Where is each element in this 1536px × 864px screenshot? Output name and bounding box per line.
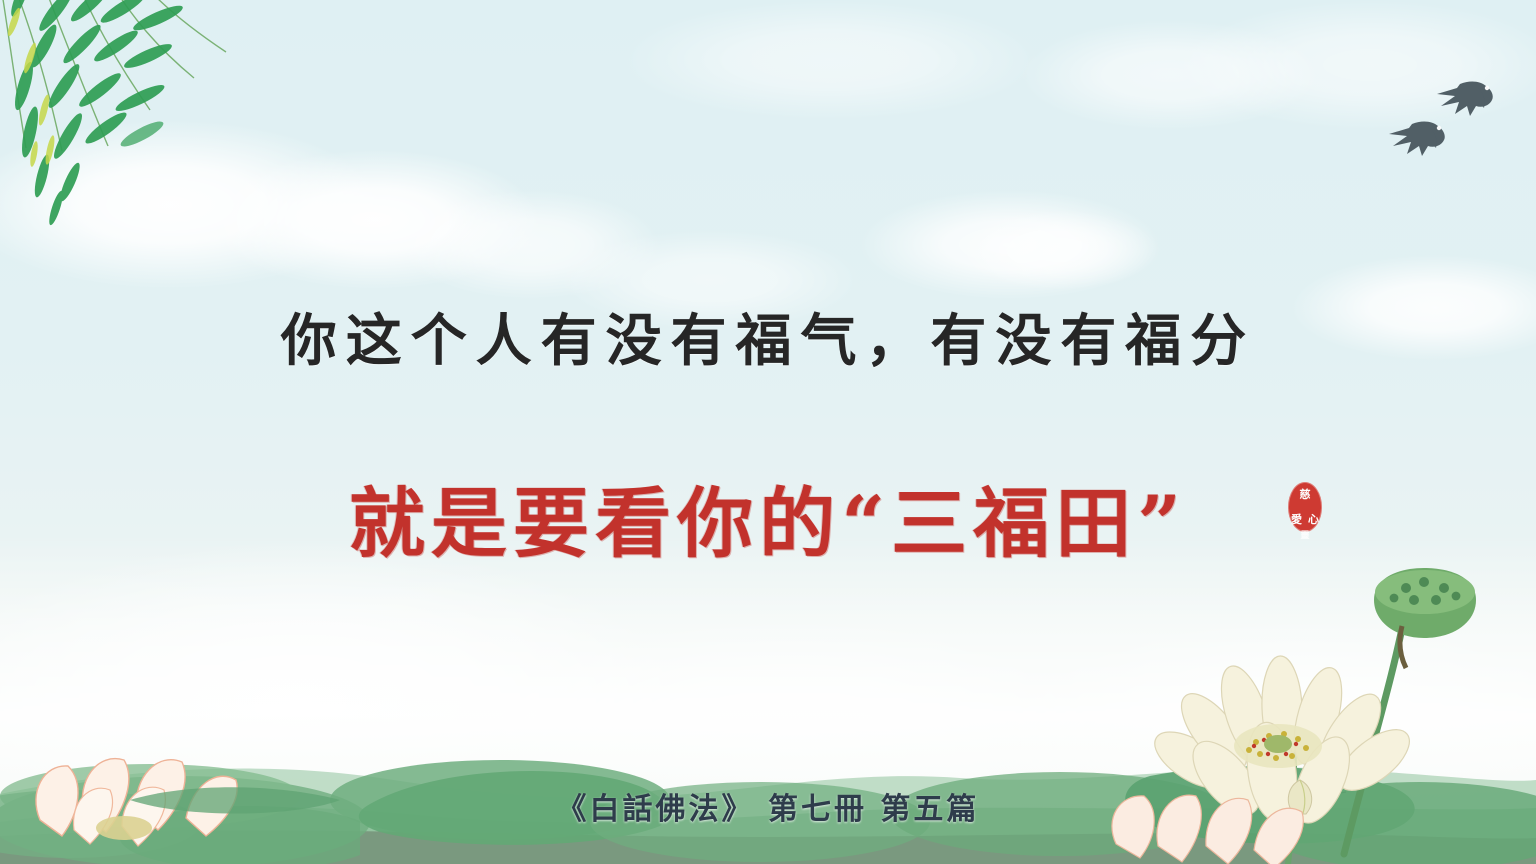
source-reference-text: 《白話佛法》 第七冊 第五篇 — [0, 784, 1536, 828]
seal-char-4: 靈 — [1300, 532, 1309, 541]
cloud-icon — [400, 190, 660, 300]
willow-branch-icon — [0, 0, 290, 236]
cloud-icon — [0, 120, 380, 290]
slide-canvas: 你这个人有没有福气，有没有福分 就是要看你的“三福田” 慈 愛 心 靈 《白話佛… — [0, 0, 1536, 864]
cloud-icon — [210, 150, 540, 290]
cloud-icon — [1180, 0, 1536, 130]
seal-char-2: 愛 — [1291, 514, 1302, 525]
cloud-icon — [1020, 20, 1320, 130]
seal-char-3: 心 — [1308, 514, 1319, 525]
cloud-icon — [620, 0, 1040, 120]
headline-text: 你这个人有没有福气，有没有福分 — [0, 296, 1536, 377]
cloud-icon — [960, 210, 1160, 290]
swallow-bird-icon — [1382, 62, 1522, 172]
seal-stamp: 慈 愛 心 靈 — [1288, 482, 1322, 532]
lotus-flower-icon — [0, 674, 360, 864]
lotus-pod-icon — [1374, 568, 1476, 668]
seal-char-1: 慈 — [1300, 489, 1311, 500]
cloud-icon — [860, 190, 1160, 300]
